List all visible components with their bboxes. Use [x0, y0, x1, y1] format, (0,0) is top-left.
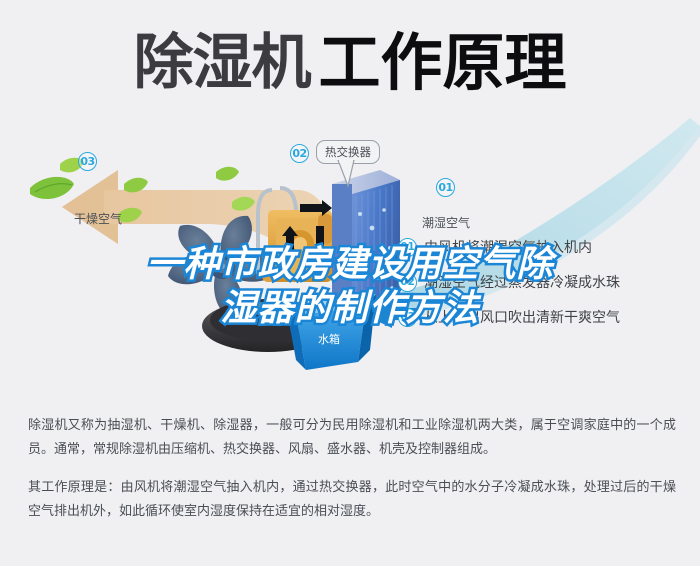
- infographic-page: 除湿机 工作原理: [0, 0, 700, 566]
- label-humid-air: 潮湿空气: [422, 214, 470, 231]
- process-step-list: 01 由风机将潮湿空气抽入机内 02 潮湿空气经过蒸发器冷凝成水珠 03 从上部…: [398, 236, 698, 341]
- badge-01-humid-air: 01: [436, 178, 455, 197]
- list-item: 03 从上部出风口吹出清新干爽空气: [398, 306, 698, 328]
- step-text: 从上部出风口吹出清新干爽空气: [424, 307, 620, 327]
- label-dry-air: 干燥空气: [74, 210, 122, 227]
- page-title: 除湿机 工作原理: [0, 24, 700, 102]
- label-water-tank: 水箱: [318, 331, 340, 347]
- body-paragraph-2: 其工作原理是：由风机将潮湿空气抽入机内，通过热交换器，此时空气中的水分子冷凝成水…: [28, 476, 676, 524]
- step-text: 潮湿空气经过蒸发器冷凝成水珠: [424, 272, 620, 292]
- step-number: 01: [398, 238, 417, 257]
- callout-pointer-icon: [336, 160, 366, 188]
- step-text: 由风机将潮湿空气抽入机内: [424, 237, 592, 257]
- step-number: 02: [398, 273, 417, 292]
- badge-02-heat-exchanger: 02: [290, 144, 309, 163]
- article-body: 除湿机又称为抽湿机、干燥机、除湿器，一般可分为民用除湿机和工业除湿机两大类，属于…: [28, 414, 676, 538]
- body-paragraph-1: 除湿机又称为抽湿机、干燥机、除湿器，一般可分为民用除湿机和工业除湿机两大类，属于…: [28, 414, 676, 462]
- step-number: 03: [398, 308, 417, 327]
- list-item: 01 由风机将潮湿空气抽入机内: [398, 236, 698, 258]
- list-item: 02 潮湿空气经过蒸发器冷凝成水珠: [398, 271, 698, 293]
- page-title-part2: 工作原理: [318, 32, 566, 94]
- page-title-part1: 除湿机: [133, 33, 310, 93]
- badge-03-dry-air: 03: [78, 152, 97, 171]
- copper-assembly: [262, 200, 332, 282]
